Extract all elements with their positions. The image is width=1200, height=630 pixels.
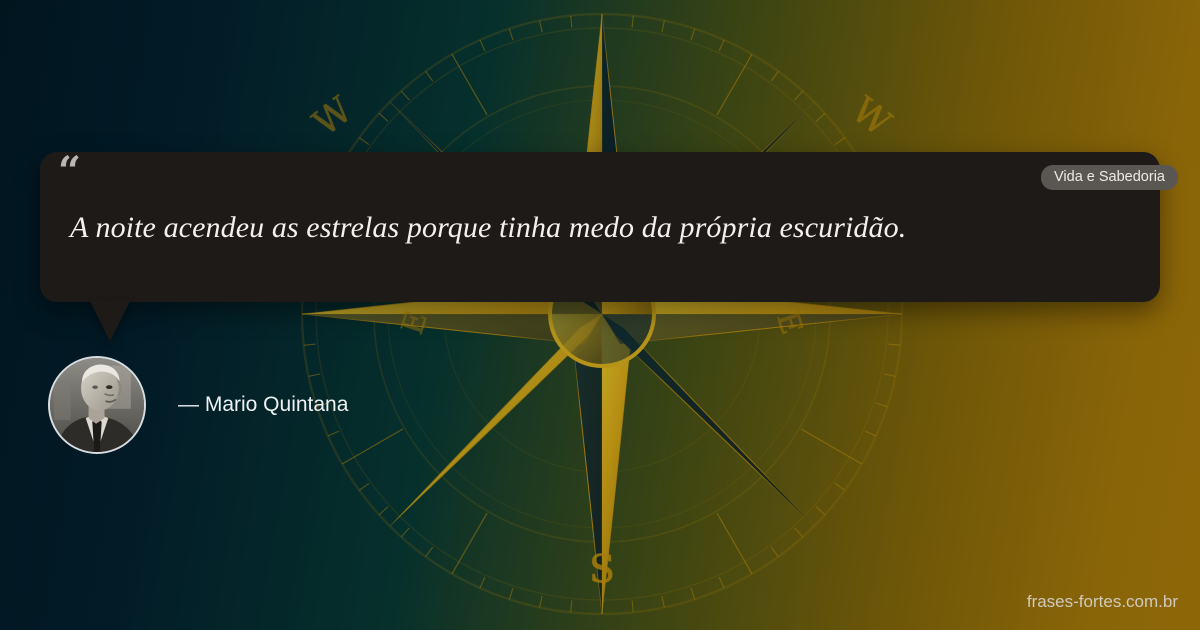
author-name: — Mario Quintana <box>178 393 348 417</box>
site-watermark: frases-fortes.com.br <box>1027 592 1178 612</box>
compass-rose-icon: S W W E E <box>278 0 926 630</box>
compass-label-east-inner: E <box>769 307 809 339</box>
compass-label-west-inner: E <box>395 307 435 339</box>
quote-text: A noite acendeu as estrelas porque tinha… <box>70 207 1030 249</box>
compass-label-south: S <box>589 547 615 591</box>
author-row: — Mario Quintana <box>48 356 348 454</box>
author-portrait-icon <box>50 358 144 452</box>
compass-label-west: W <box>306 89 360 144</box>
avatar[interactable] <box>48 356 146 454</box>
quote-card-canvas: S W W E E “ A noite acendeu as estrelas … <box>0 0 1200 630</box>
quote-card-tail <box>90 301 130 341</box>
category-badge[interactable]: Vida e Sabedoria <box>1041 165 1178 190</box>
compass-label-east: W <box>844 89 898 144</box>
quotation-mark-icon: “ <box>58 152 81 192</box>
